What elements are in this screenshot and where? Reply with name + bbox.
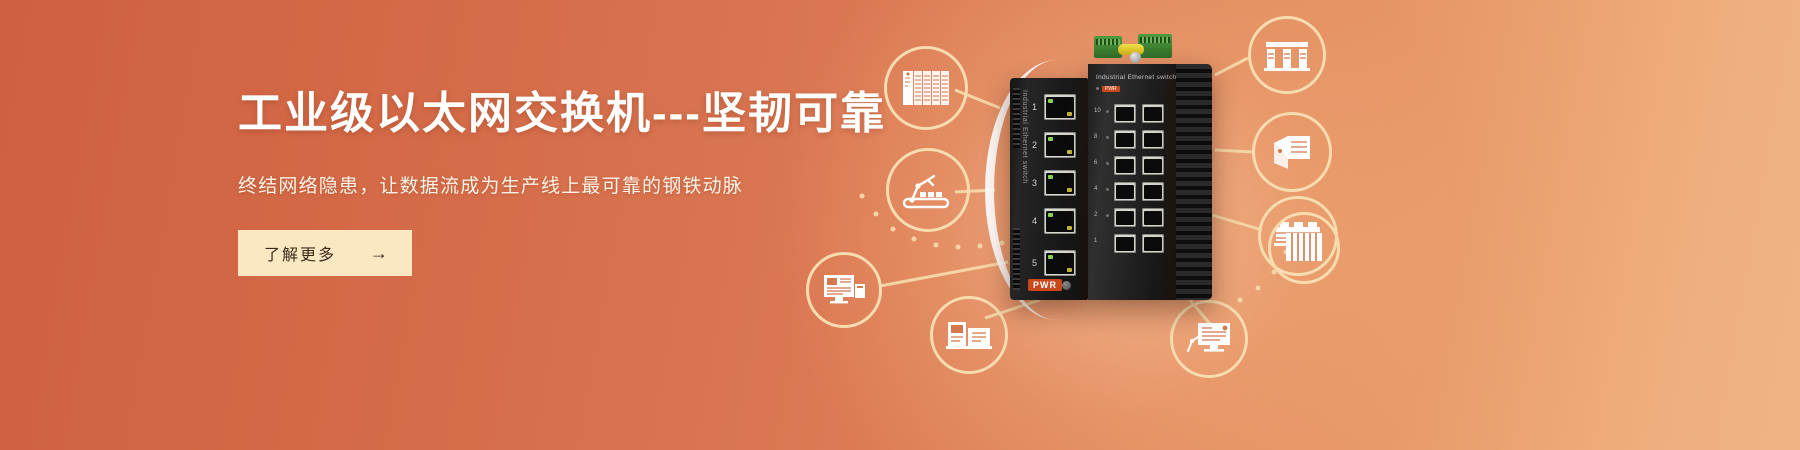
workstation-icon	[822, 272, 866, 308]
switch-left-unit: Industrial Ethernet switch 1 2 3 4 5 PWR	[1010, 78, 1088, 300]
right-rj45-port-1[interactable]	[1142, 208, 1164, 227]
node-scada-monitor[interactable]	[1170, 300, 1248, 378]
right-rj45-port-extra-a[interactable]	[1114, 234, 1136, 253]
right-rj45-port-5[interactable]	[1142, 156, 1164, 175]
factory-gate-icon	[1264, 38, 1310, 72]
arrow-right-icon: →	[370, 244, 390, 262]
cnc-machine-icon	[946, 318, 992, 352]
port-number-2: 2	[1032, 140, 1037, 150]
scada-monitor-icon	[1186, 321, 1232, 357]
hero-copy: 工业级以太网交换机---坚韧可靠 终结网络隐患，让数据流成为生产线上最可靠的钢铁…	[238, 86, 878, 276]
right-rj45-port-8[interactable]	[1114, 130, 1136, 149]
hero-subtitle: 终结网络隐患，让数据流成为生产线上最可靠的钢铁动脉	[238, 171, 878, 198]
right-rj45-port-4[interactable]	[1114, 182, 1136, 201]
switch-heatsink-fins	[1176, 64, 1212, 300]
node-cnc-machine[interactable]	[930, 296, 1008, 374]
node-plc-cabinet[interactable]	[884, 46, 968, 130]
hero-banner: 工业级以太网交换机---坚韧可靠 终结网络隐患，让数据流成为生产线上最可靠的钢铁…	[0, 0, 1800, 450]
learn-more-label: 了解更多	[264, 241, 336, 265]
node-blade[interactable]	[1268, 212, 1340, 284]
rj45-port-3[interactable]	[1044, 170, 1076, 196]
rj45-port-1[interactable]	[1044, 94, 1076, 120]
rj45-port-5[interactable]	[1044, 250, 1076, 276]
port-number-5: 5	[1032, 258, 1037, 268]
server-rack-icon	[1270, 133, 1314, 171]
pwr-badge: PWR	[1028, 279, 1062, 291]
switch-right-label: Industrial Ethernet switch	[1096, 74, 1176, 81]
node-server-rack[interactable]	[1252, 112, 1332, 192]
rj45-port-4[interactable]	[1044, 208, 1076, 234]
right-port-number-2: 2	[1094, 212, 1097, 218]
right-rj45-port-10[interactable]	[1114, 104, 1136, 123]
robot-arm-icon	[902, 170, 954, 210]
right-rj45-port-extra-b[interactable]	[1142, 234, 1164, 253]
node-workstation[interactable]	[806, 252, 882, 328]
port-number-1: 1	[1032, 102, 1037, 112]
port-number-3: 3	[1032, 178, 1037, 188]
right-port-number-8: 8	[1094, 134, 1097, 140]
right-rj45-port-6[interactable]	[1114, 156, 1136, 175]
port-number-4: 4	[1032, 216, 1037, 226]
screw-icon	[1130, 52, 1141, 63]
node-robot-arm[interactable]	[886, 148, 970, 232]
right-port-number-4: 4	[1094, 186, 1097, 192]
right-pwr-badge: PWR	[1102, 86, 1120, 92]
learn-more-button[interactable]: 了解更多 →	[238, 230, 412, 276]
rj45-port-2[interactable]	[1044, 132, 1076, 158]
right-rj45-port-3[interactable]	[1142, 182, 1164, 201]
right-port-number-6: 6	[1094, 160, 1097, 166]
node-factory-gate[interactable]	[1248, 16, 1326, 94]
server-blade-icon	[1284, 231, 1324, 265]
right-port-number-10: 10	[1094, 108, 1101, 114]
right-port-number-1: 1	[1094, 238, 1097, 244]
plc-cabinet-icon	[902, 68, 950, 108]
right-rj45-port-9[interactable]	[1142, 104, 1164, 123]
right-rj45-port-7[interactable]	[1142, 130, 1164, 149]
page-title: 工业级以太网交换机---坚韧可靠	[238, 86, 878, 141]
right-rj45-port-2[interactable]	[1114, 208, 1136, 227]
pwr-led	[1062, 281, 1071, 290]
server-blade-group	[1268, 212, 1340, 284]
switch-right-unit: Industrial Ethernet switch PWR 10 8 6 4 …	[1088, 64, 1176, 300]
